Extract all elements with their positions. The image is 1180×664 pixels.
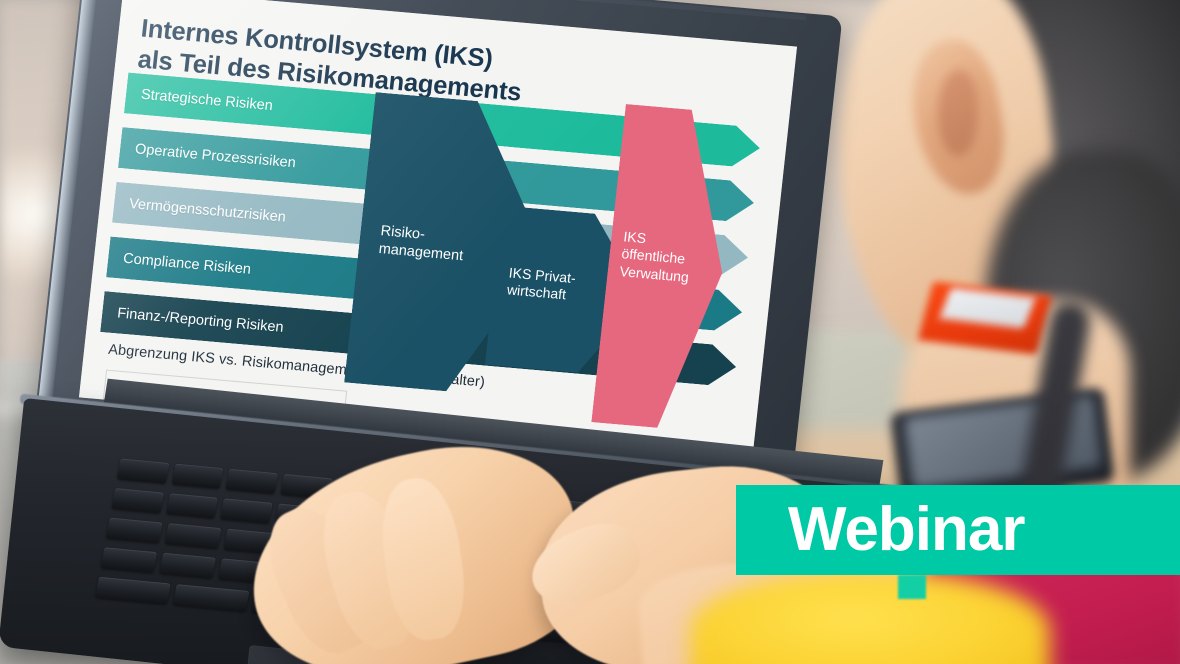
key[interactable] bbox=[95, 577, 171, 605]
key[interactable] bbox=[165, 523, 222, 549]
webinar-badge-tab bbox=[898, 575, 926, 599]
overlay-arrow-label: IKS öffentliche Verwaltung bbox=[619, 228, 694, 286]
risk-row-label: Strategische Risiken bbox=[125, 85, 273, 114]
risk-row-label: Vermögensschutzrisiken bbox=[113, 194, 286, 225]
screenshot-scene: Internes Kontrollsystem (IKS) als Teil d… bbox=[0, 0, 1180, 664]
person-ear-inner bbox=[938, 70, 978, 156]
key[interactable] bbox=[173, 584, 249, 612]
key[interactable] bbox=[171, 464, 223, 489]
key[interactable] bbox=[117, 458, 169, 483]
key[interactable] bbox=[221, 498, 273, 523]
webinar-badge[interactable]: Webinar bbox=[736, 485, 1180, 575]
key[interactable] bbox=[166, 493, 218, 518]
risk-row-label: Compliance Risiken bbox=[107, 249, 251, 277]
risk-row-label: Operative Prozessrisiken bbox=[119, 140, 296, 171]
key[interactable] bbox=[159, 553, 216, 579]
webinar-badge-label: Webinar bbox=[788, 499, 1024, 561]
overlay-arrow-label: Risiko- management bbox=[378, 223, 466, 266]
risk-row-label: Finanz-/Reporting Risiken bbox=[102, 304, 285, 336]
overlay-arrow-label: IKS Privat- wirtschaft bbox=[506, 264, 576, 304]
key[interactable] bbox=[111, 488, 163, 513]
risk-rows-group: Strategische Risiken Operative Prozessri… bbox=[100, 72, 786, 390]
key[interactable] bbox=[101, 547, 158, 573]
key[interactable] bbox=[106, 518, 163, 544]
key[interactable] bbox=[226, 469, 278, 494]
